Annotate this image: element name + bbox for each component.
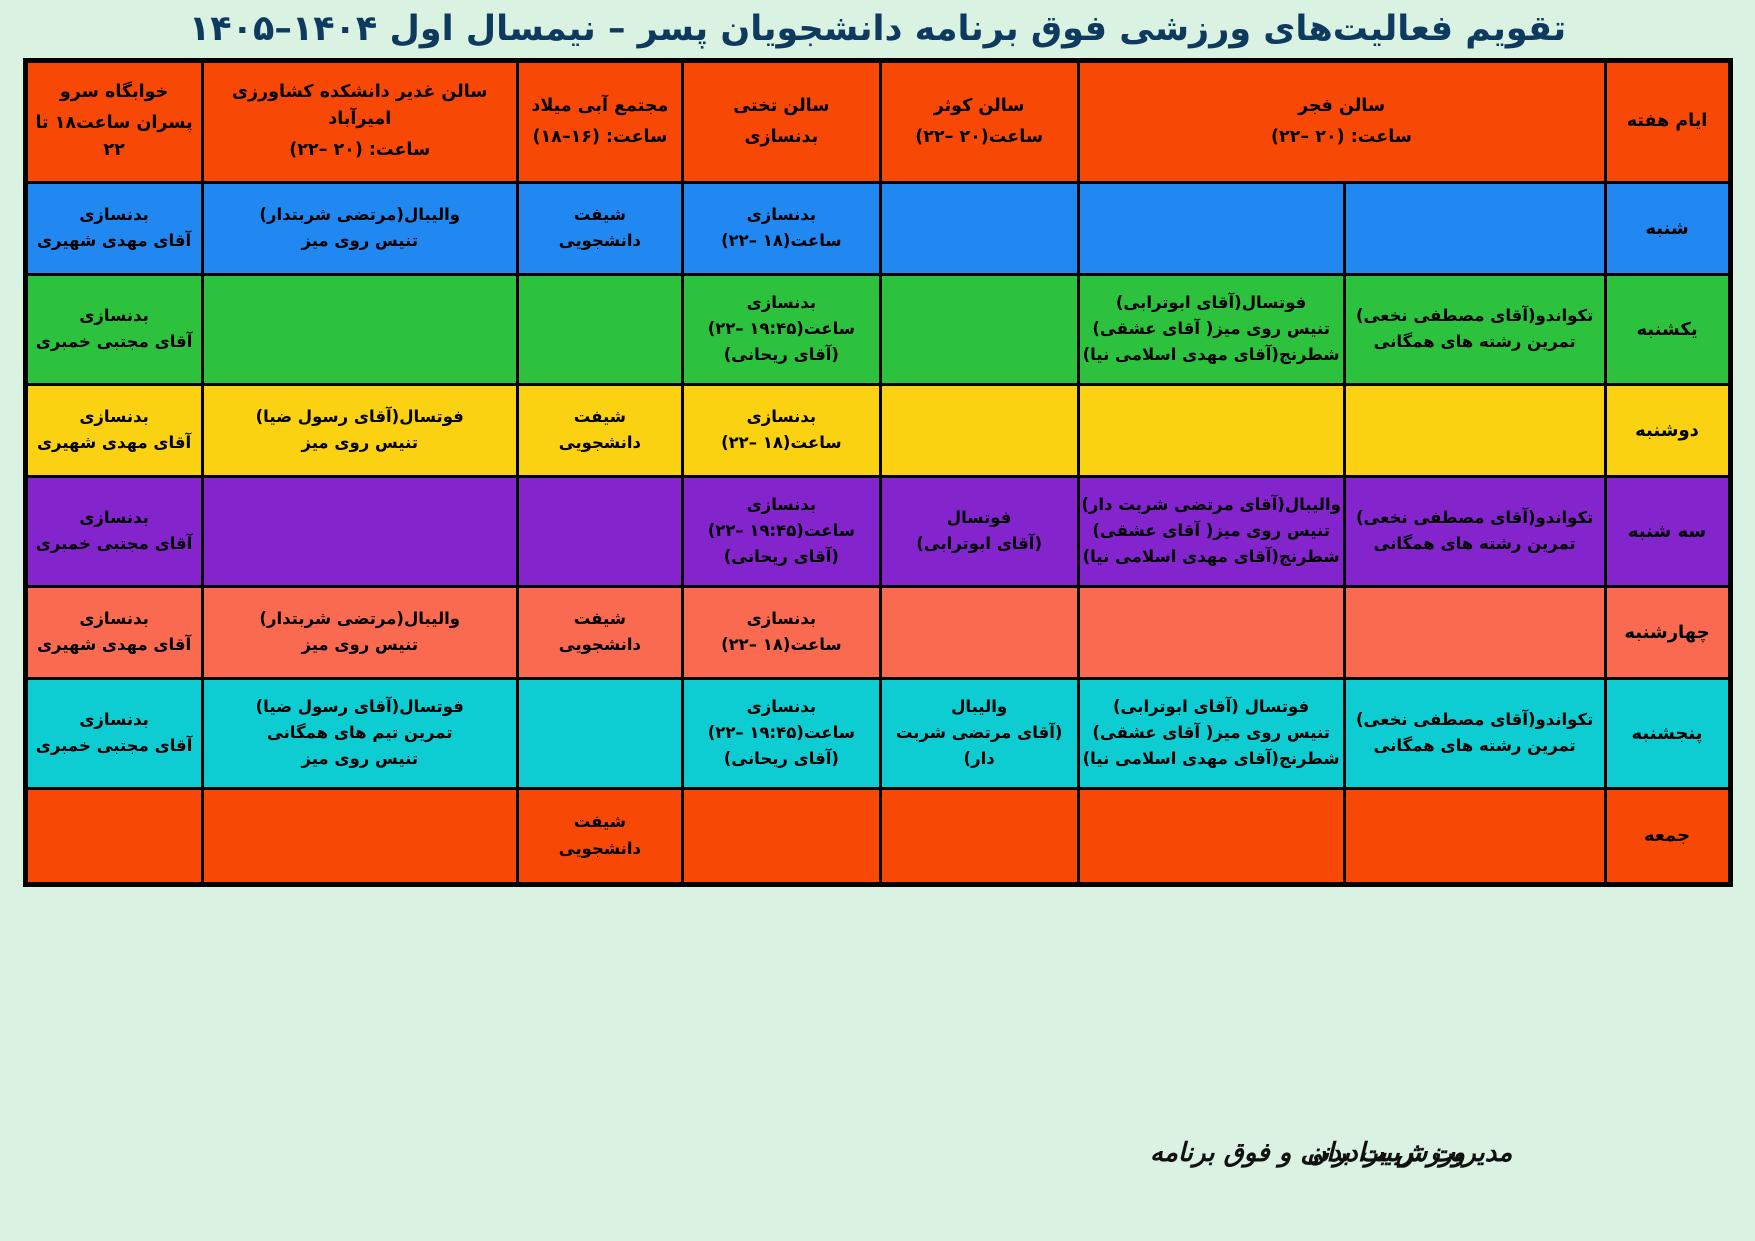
cell-line: تنیس روی میز xyxy=(204,430,516,456)
cell-line: تنیس روی میز xyxy=(204,746,516,772)
day-name-label: پنجشنبه xyxy=(1632,723,1703,744)
cell-line: تمرین رشته های همگانی xyxy=(1346,531,1604,557)
cell-sarv: بدنسازیآقای مهدی شهیری xyxy=(25,384,202,476)
cell-line: تکواندو(آقای مصطفی نخعی) xyxy=(1346,707,1604,733)
cell-line: تنیس روی میز( آقای عشقی) xyxy=(1080,518,1343,544)
cell-kosar xyxy=(880,182,1078,274)
cell-sarv: بدنسازیآقای مجتبی خمبری xyxy=(25,678,202,788)
cell-milad xyxy=(517,678,682,788)
header-venue-kosar-name: سالن کوثر xyxy=(882,93,1077,120)
cell-line: شطرنج(آقای مهدی اسلامی نیا) xyxy=(1080,544,1343,570)
header-venue-sarv-name: خوابگاه سرو xyxy=(28,79,201,106)
cell-takhti: بدنسازیساعت(۱۹:۴۵ –۲۲)(آقای ریحانی) xyxy=(682,274,880,384)
cell-kosar xyxy=(880,384,1078,476)
cell-line: تکواندو(آقای مصطفی نخعی) xyxy=(1346,303,1604,329)
cell-sarv: بدنسازیآقای مهدی شهیری xyxy=(25,182,202,274)
cell-fajr-b: تکواندو(آقای مصطفی نخعی)تمرین رشته های ه… xyxy=(1344,476,1605,586)
cell-line: ساعت(۱۸ –۲۲) xyxy=(684,430,879,456)
day-name-cell: سه شنبه xyxy=(1605,476,1730,586)
cell-kosar xyxy=(880,274,1078,384)
cell-line: فوتسال(آقای رسول ضیا) xyxy=(204,404,516,430)
day-name-label: دوشنبه xyxy=(1635,420,1699,441)
cell-line: بدنسازی xyxy=(684,606,879,632)
table-body: شنبهبدنسازیساعت(۱۸ –۲۲)شیفتدانشجوییوالیب… xyxy=(25,182,1730,884)
cell-line: والیبال(مرتضی شربتدار) xyxy=(204,202,516,228)
cell-line: بدنسازی xyxy=(684,290,879,316)
cell-line: شطرنج(آقای مهدی اسلامی نیا) xyxy=(1080,342,1343,368)
header-row: ایام هفته سالن فجر ساعت: (۲۰ –۲۲) سالن ک… xyxy=(25,60,1730,182)
cell-ghadir: والیبال(مرتضی شربتدار)تنیس روی میز xyxy=(202,586,517,678)
cell-line: دانشجویی xyxy=(519,632,681,658)
cell-line: دانشجویی xyxy=(519,228,681,254)
cell-sarv: بدنسازیآقای مجتبی خمبری xyxy=(25,476,202,586)
cell-sarv xyxy=(25,788,202,884)
schedule-table: ایام هفته سالن فجر ساعت: (۲۰ –۲۲) سالن ک… xyxy=(23,58,1733,887)
day-name-label: چهارشنبه xyxy=(1624,622,1709,643)
cell-takhti: بدنسازیساعت(۱۸ –۲۲) xyxy=(682,182,880,274)
header-venue-milad-name: مجتمع آبی میلاد xyxy=(519,93,681,120)
cell-line: فوتسال xyxy=(882,505,1077,531)
cell-line: فوتسال (آقای ابوترابی) xyxy=(1080,694,1343,720)
cell-line: بدنسازی xyxy=(28,606,201,632)
cell-line: آقای مجتبی خمبری xyxy=(28,733,201,759)
cell-line: تنیس روی میز xyxy=(204,632,516,658)
day-name-label: یکشنبه xyxy=(1636,319,1697,340)
cell-milad: شیفتدانشجویی xyxy=(517,586,682,678)
cell-takhti xyxy=(682,788,880,884)
cell-line: (آقای ریحانی) xyxy=(684,746,879,772)
cell-milad: شیفتدانشجویی xyxy=(517,182,682,274)
cell-ghadir xyxy=(202,476,517,586)
cell-line: (آقای ابوترابی) xyxy=(882,531,1077,557)
header-venue-sarv-time: پسران ساعت۱۸ تا ۲۲ xyxy=(28,110,201,164)
cell-line: بدنسازی xyxy=(684,492,879,518)
cell-kosar: والیبال(آقای مرتضی شربت دار) xyxy=(880,678,1078,788)
cell-fajr-b xyxy=(1344,384,1605,476)
cell-milad xyxy=(517,476,682,586)
header-day-column-label: ایام هفته xyxy=(1607,108,1728,135)
schedule-table-wrapper: ایام هفته سالن فجر ساعت: (۲۰ –۲۲) سالن ک… xyxy=(23,58,1733,887)
cell-ghadir: والیبال(مرتضی شربتدار)تنیس روی میز xyxy=(202,182,517,274)
header-venue-takhti-time: بدنسازی xyxy=(684,124,879,151)
cell-line: والیبال(مرتضی شربتدار) xyxy=(204,606,516,632)
cell-fajr-b xyxy=(1344,586,1605,678)
cell-line: بدنسازی xyxy=(684,404,879,430)
cell-sarv: بدنسازیآقای مجتبی خمبری xyxy=(25,274,202,384)
table-row: جمعهشیفتدانشجویی xyxy=(25,788,1730,884)
cell-line: آقای مهدی شهیری xyxy=(28,430,201,456)
header-venue-fajr: سالن فجر ساعت: (۲۰ –۲۲) xyxy=(1078,60,1605,182)
cell-line: بدنسازی xyxy=(684,202,879,228)
cell-line: ساعت(۱۹:۴۵ –۲۲) xyxy=(684,720,879,746)
cell-fajr-b xyxy=(1344,182,1605,274)
cell-kosar xyxy=(880,586,1078,678)
table-header: ایام هفته سالن فجر ساعت: (۲۰ –۲۲) سالن ک… xyxy=(25,60,1730,182)
day-name-label: شنبه xyxy=(1645,218,1688,239)
cell-line: دانشجویی xyxy=(519,430,681,456)
table-row: چهارشنبهبدنسازیساعت(۱۸ –۲۲)شیفتدانشجوییو… xyxy=(25,586,1730,678)
header-venue-milad-time: ساعت: (۱۶–۱۸) xyxy=(519,124,681,151)
cell-fajr-b: تکواندو(آقای مصطفی نخعی)تمرین رشته های ه… xyxy=(1344,678,1605,788)
cell-line: بدنسازی xyxy=(28,404,201,430)
cell-line: آقای مهدی شهیری xyxy=(28,228,201,254)
cell-line: والیبال(آقای مرتضی شربت دار) xyxy=(1080,492,1343,518)
cell-line: تکواندو(آقای مصطفی نخعی) xyxy=(1346,505,1604,531)
header-venue-fajr-time: ساعت: (۲۰ –۲۲) xyxy=(1080,124,1604,151)
cell-fajr-a xyxy=(1078,384,1344,476)
cell-sarv: بدنسازیآقای مهدی شهیری xyxy=(25,586,202,678)
cell-line: والیبال xyxy=(882,694,1077,720)
cell-line: آقای مجتبی خمبری xyxy=(28,531,201,557)
header-venue-takhti-name: سالن تختی xyxy=(684,93,879,120)
cell-line: (آقای مرتضی شربت دار) xyxy=(882,720,1077,773)
cell-line: ساعت(۱۹:۴۵ –۲۲) xyxy=(684,316,879,342)
cell-line: (آقای ریحانی) xyxy=(684,342,879,368)
header-venue-milad: مجتمع آبی میلاد ساعت: (۱۶–۱۸) xyxy=(517,60,682,182)
cell-line: فوتسال(آقای ابوترابی) xyxy=(1080,290,1343,316)
cell-kosar xyxy=(880,788,1078,884)
cell-takhti: بدنسازیساعت(۱۹:۴۵ –۲۲)(آقای ریحانی) xyxy=(682,678,880,788)
page-title: تقویم فعالیت‌های ورزشی فوق برنامه دانشجو… xyxy=(0,0,1755,58)
cell-milad: شیفتدانشجویی xyxy=(517,788,682,884)
cell-line: تمرین رشته های همگانی xyxy=(1346,733,1604,759)
day-name-cell: شنبه xyxy=(1605,182,1730,274)
cell-fajr-a xyxy=(1078,788,1344,884)
cell-line: آقای مجتبی خمبری xyxy=(28,329,201,355)
cell-line: بدنسازی xyxy=(28,505,201,531)
day-name-cell: چهارشنبه xyxy=(1605,586,1730,678)
cell-fajr-a: فوتسال (آقای ابوترابی)تنیس روی میز( آقای… xyxy=(1078,678,1344,788)
cell-line: آقای مهدی شهیری xyxy=(28,632,201,658)
cell-line: فوتسال(آقای رسول ضیا) xyxy=(204,694,516,720)
page-footer: ورزش برادران مدیریت تربیت بدنی و فوق برن… xyxy=(0,1130,1755,1190)
cell-line: (آقای ریحانی) xyxy=(684,544,879,570)
header-venue-fajr-name: سالن فجر xyxy=(1080,93,1604,120)
cell-takhti: بدنسازیساعت(۱۸ –۲۲) xyxy=(682,586,880,678)
cell-fajr-b xyxy=(1344,788,1605,884)
table-row: پنجشنبهتکواندو(آقای مصطفی نخعی)تمرین رشت… xyxy=(25,678,1730,788)
cell-milad xyxy=(517,274,682,384)
day-name-cell: جمعه xyxy=(1605,788,1730,884)
cell-line: شطرنج(آقای مهدی اسلامی نیا) xyxy=(1080,746,1343,772)
header-venue-kosar-time: ساعت(۲۰ –۲۲) xyxy=(882,124,1077,151)
cell-line: دانشجویی xyxy=(519,836,681,862)
header-venue-ghadir-name: سالن غدیر دانشکده کشاورزی امیرآباد xyxy=(204,79,516,133)
cell-fajr-a: والیبال(آقای مرتضی شربت دار)تنیس روی میز… xyxy=(1078,476,1344,586)
cell-ghadir xyxy=(202,274,517,384)
cell-line: ساعت(۱۹:۴۵ –۲۲) xyxy=(684,518,879,544)
cell-milad: شیفتدانشجویی xyxy=(517,384,682,476)
cell-takhti: بدنسازیساعت(۱۸ –۲۲) xyxy=(682,384,880,476)
cell-ghadir: فوتسال(آقای رسول ضیا)تمرین تیم های همگان… xyxy=(202,678,517,788)
cell-fajr-b: تکواندو(آقای مصطفی نخعی)تمرین رشته های ه… xyxy=(1344,274,1605,384)
cell-takhti: بدنسازیساعت(۱۹:۴۵ –۲۲)(آقای ریحانی) xyxy=(682,476,880,586)
header-venue-sarv: خوابگاه سرو پسران ساعت۱۸ تا ۲۲ xyxy=(25,60,202,182)
table-row: یکشنبهتکواندو(آقای مصطفی نخعی)تمرین رشته… xyxy=(25,274,1730,384)
cell-line: تنیس روی میز( آقای عشقی) xyxy=(1080,316,1343,342)
cell-line: بدنسازی xyxy=(684,694,879,720)
cell-line: تنیس روی میز( آقای عشقی) xyxy=(1080,720,1343,746)
cell-fajr-a: فوتسال(آقای ابوترابی)تنیس روی میز( آقای … xyxy=(1078,274,1344,384)
day-name-label: سه شنبه xyxy=(1628,521,1706,542)
cell-line: ساعت(۱۸ –۲۲) xyxy=(684,632,879,658)
cell-line: شیفت xyxy=(519,404,681,430)
table-row: دوشنبهبدنسازیساعت(۱۸ –۲۲)شیفتدانشجوییفوت… xyxy=(25,384,1730,476)
cell-line: شیفت xyxy=(519,809,681,835)
header-day-column: ایام هفته xyxy=(1605,60,1730,182)
cell-line: تنیس روی میز xyxy=(204,228,516,254)
footer-left-text: مدیریت تربیت بدنی و فوق برنامه xyxy=(1150,1138,1512,1168)
header-venue-takhti: سالن تختی بدنسازی xyxy=(682,60,880,182)
cell-kosar: فوتسال(آقای ابوترابی) xyxy=(880,476,1078,586)
day-name-cell: پنجشنبه xyxy=(1605,678,1730,788)
cell-ghadir xyxy=(202,788,517,884)
cell-line: ساعت(۱۸ –۲۲) xyxy=(684,228,879,254)
cell-line: شیفت xyxy=(519,606,681,632)
day-name-cell: دوشنبه xyxy=(1605,384,1730,476)
header-venue-kosar: سالن کوثر ساعت(۲۰ –۲۲) xyxy=(880,60,1078,182)
day-name-label: جمعه xyxy=(1644,825,1690,846)
table-row: سه شنبهتکواندو(آقای مصطفی نخعی)تمرین رشت… xyxy=(25,476,1730,586)
day-name-cell: یکشنبه xyxy=(1605,274,1730,384)
cell-line: تمرین رشته های همگانی xyxy=(1346,329,1604,355)
cell-line: تمرین تیم های همگانی xyxy=(204,720,516,746)
cell-fajr-a xyxy=(1078,586,1344,678)
cell-line: بدنسازی xyxy=(28,202,201,228)
cell-ghadir: فوتسال(آقای رسول ضیا)تنیس روی میز xyxy=(202,384,517,476)
cell-fajr-a xyxy=(1078,182,1344,274)
table-row: شنبهبدنسازیساعت(۱۸ –۲۲)شیفتدانشجوییوالیب… xyxy=(25,182,1730,274)
cell-line: شیفت xyxy=(519,202,681,228)
header-venue-ghadir: سالن غدیر دانشکده کشاورزی امیرآباد ساعت:… xyxy=(202,60,517,182)
cell-line: بدنسازی xyxy=(28,303,201,329)
header-venue-ghadir-time: ساعت: (۲۰ –۲۲) xyxy=(204,137,516,164)
cell-line: بدنسازی xyxy=(28,707,201,733)
